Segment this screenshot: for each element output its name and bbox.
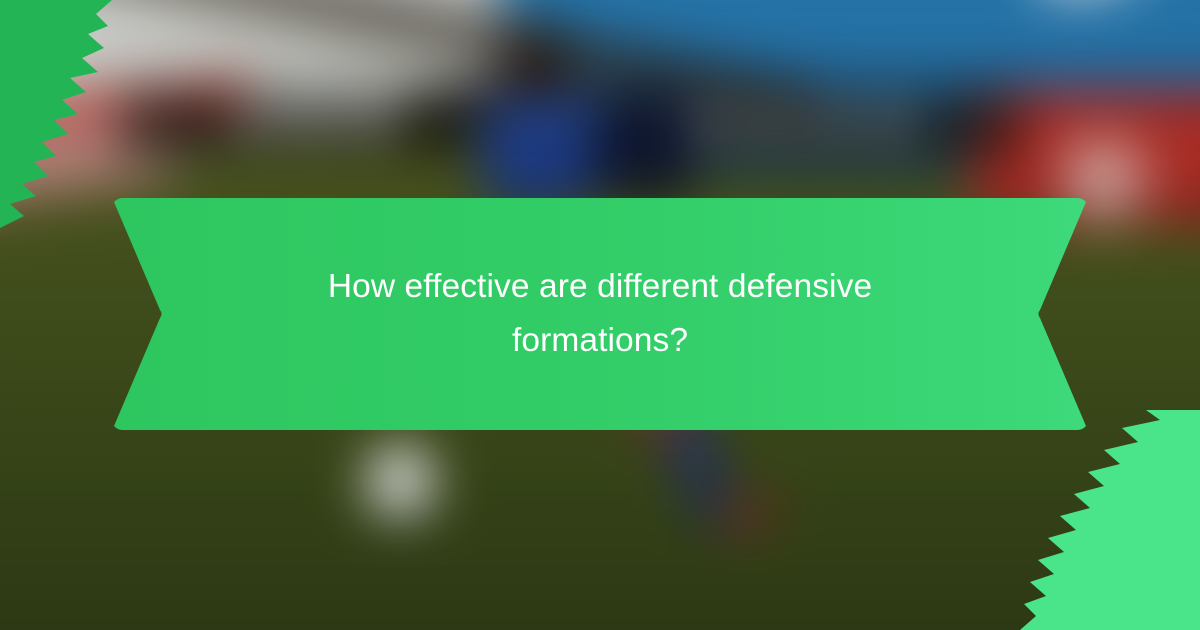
headline-line-2: formations? (512, 317, 688, 365)
headline-ribbon-banner: How effective are different defensive fo… (110, 198, 1090, 430)
headline-text-block: How effective are different defensive fo… (110, 198, 1090, 430)
share-card: How effective are different defensive fo… (0, 0, 1200, 630)
headline-line-1: How effective are different defensive (328, 263, 872, 311)
